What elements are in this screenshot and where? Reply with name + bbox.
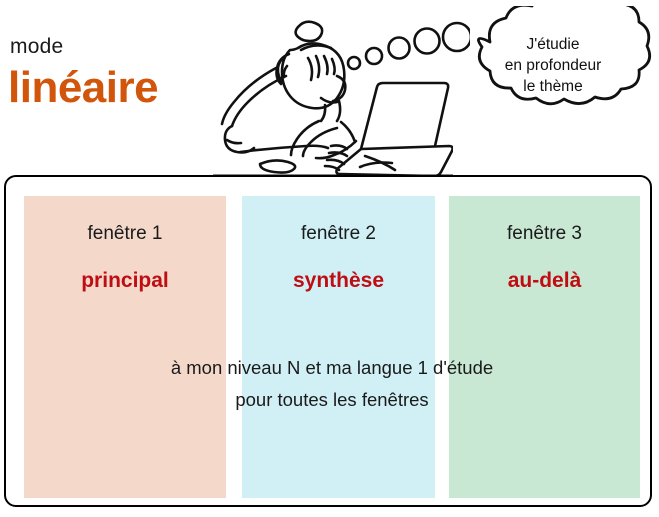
thought-cloud: J'étudie en profondeur le thème (448, 6, 659, 131)
mode-title: linéaire (8, 62, 158, 114)
panel-1-window-label: fenêtre 1 (24, 222, 226, 246)
thought-cloud-text: J'étudie en profondeur le thème (474, 34, 632, 97)
panel-fenetre-1[interactable]: fenêtre 1 principal (24, 196, 226, 498)
panel-3-keyword: au-delà (449, 268, 640, 294)
thought-cloud-line-3: le thème (474, 76, 632, 97)
mode-label: mode (10, 34, 63, 60)
panel-2-window-label: fenêtre 2 (242, 222, 435, 246)
header-area: mode linéaire (0, 0, 659, 176)
panels-container: fenêtre 1 principal fenêtre 2 synthèse f… (24, 196, 640, 498)
footer-note: à mon niveau N et ma langue 1 d'étude po… (24, 352, 640, 416)
footer-note-line-1: à mon niveau N et ma langue 1 d'étude (24, 352, 640, 384)
panel-3-window-label: fenêtre 3 (449, 222, 640, 246)
thought-cloud-line-2: en profondeur (474, 55, 632, 76)
footer-note-line-2: pour toutes les fenêtres (24, 384, 640, 416)
modes-panel-box: fenêtre 1 principal fenêtre 2 synthèse f… (4, 175, 652, 507)
panel-fenetre-2[interactable]: fenêtre 2 synthèse (242, 196, 435, 498)
thought-cloud-line-1: J'étudie (474, 34, 632, 55)
panel-1-keyword: principal (24, 268, 226, 294)
panel-2-keyword: synthèse (242, 268, 435, 294)
panel-fenetre-3[interactable]: fenêtre 3 au-delà (449, 196, 640, 498)
